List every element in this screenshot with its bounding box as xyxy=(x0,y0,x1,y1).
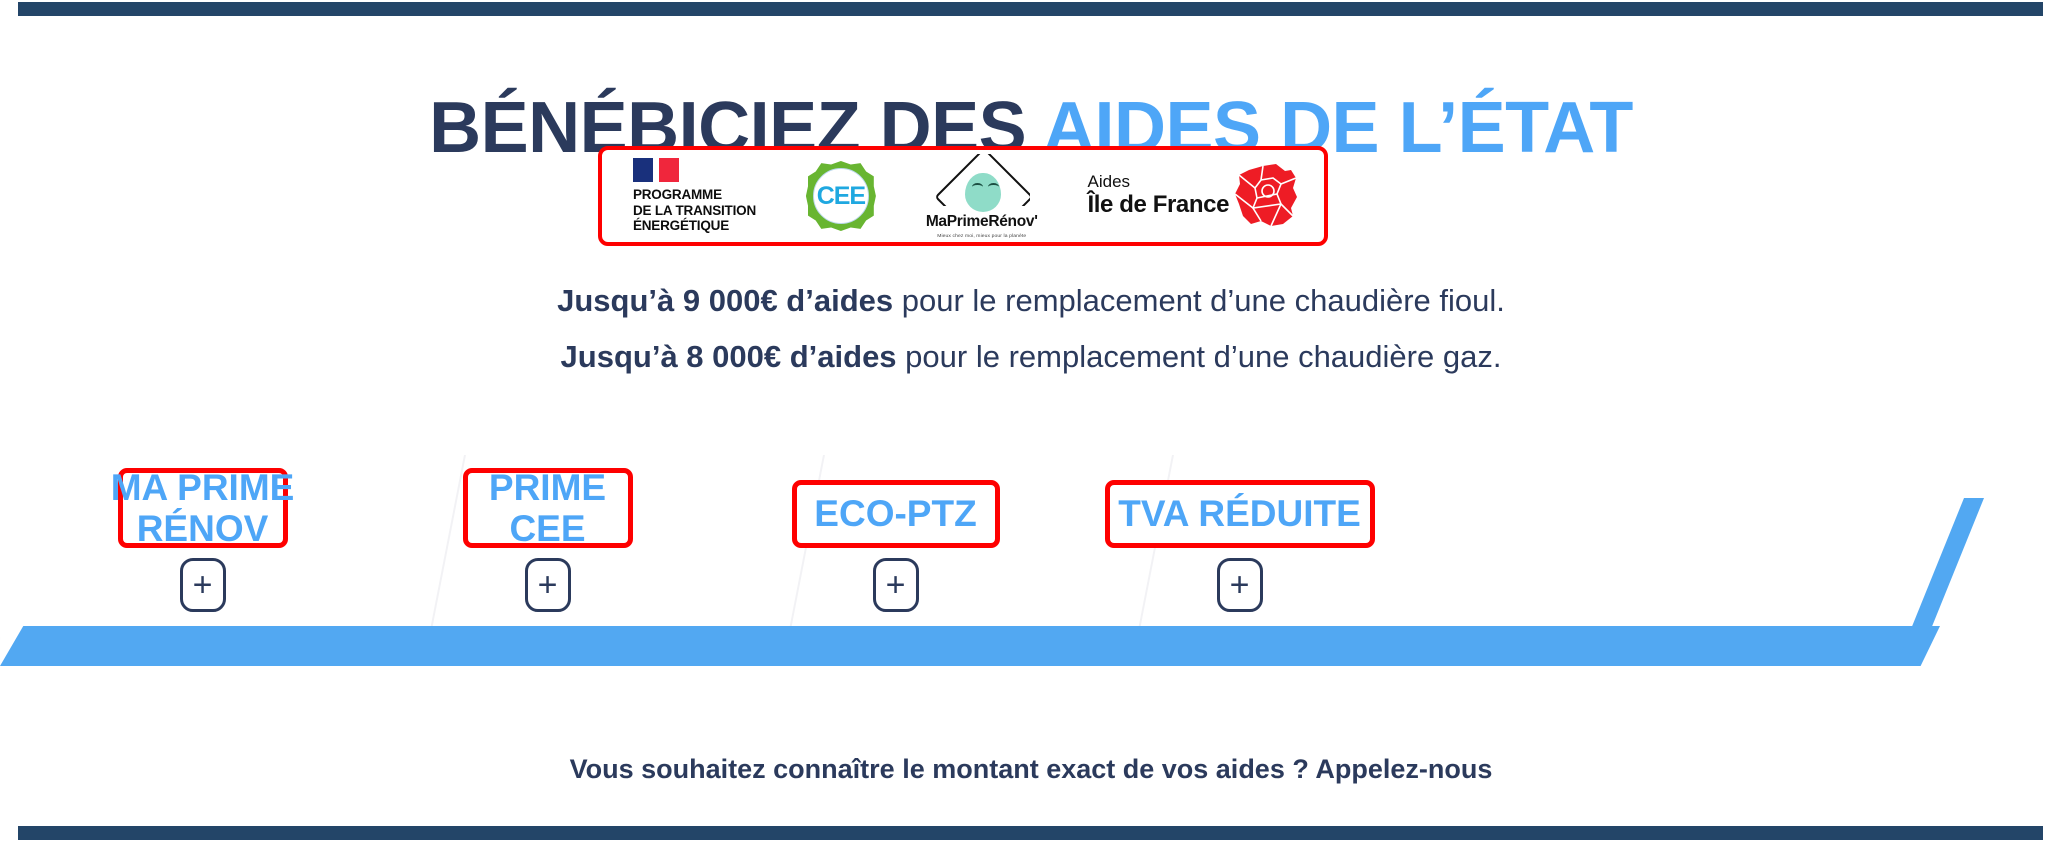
aid-cards-strip: MA PRIME RÉNOV + PRIME CEE + ECO-PTZ + T… xyxy=(0,430,2062,680)
aid-amount-fioul-strong: Jusqu’à 9 000€ d’aides xyxy=(557,283,893,318)
ile-de-france-map-icon xyxy=(1233,164,1299,228)
aid-amount-line-fioul: Jusqu’à 9 000€ d’aides pour le remplacem… xyxy=(0,283,2062,319)
logo-maprimerenov-name: MaPrimeRénov' xyxy=(926,213,1038,231)
aid-card-label-line2: CEE xyxy=(509,508,585,549)
expand-button-ma-prime-renov[interactable]: + xyxy=(180,558,226,612)
aid-card-label-line2: RÉNOV xyxy=(137,508,269,549)
logo-maprimerenov-tagline: Mieux chez moi, mieux pour la planète xyxy=(937,233,1026,239)
aid-card-prime-cee[interactable]: PRIME CEE + xyxy=(420,430,675,680)
bottom-accent-bar xyxy=(18,826,2043,840)
partner-logo-strip: PROGRAMME DE LA TRANSITION ÉNERGÉTIQUE C… xyxy=(598,146,1328,246)
aid-amount-line-gaz: Jusqu’à 8 000€ d’aides pour le remplacem… xyxy=(0,339,2062,375)
aid-card-eco-ptz[interactable]: ECO-PTZ + xyxy=(768,430,1023,680)
aid-card-label-eco-ptz[interactable]: ECO-PTZ xyxy=(792,480,1000,548)
aid-card-label-prime-cee[interactable]: PRIME CEE xyxy=(463,468,633,548)
aid-card-label-ma-prime-renov[interactable]: MA PRIME RÉNOV xyxy=(118,468,288,548)
logo-programme-line2: DE LA TRANSITION xyxy=(633,203,756,219)
logo-cee: CEE xyxy=(806,161,876,231)
aid-amount-fioul-rest: pour le remplacement d’une chaudière fio… xyxy=(893,283,1505,318)
cee-badge-icon: CEE xyxy=(806,161,876,231)
aid-card-tva-reduite[interactable]: TVA RÉDUITE + xyxy=(1112,430,1367,680)
expand-button-eco-ptz[interactable]: + xyxy=(873,558,919,612)
logo-aides-ile-de-france: Aides Île de France xyxy=(1088,164,1300,228)
expand-button-prime-cee[interactable]: + xyxy=(525,558,571,612)
french-flag-icon xyxy=(633,158,679,182)
logo-maprimerenov: MaPrimeRénov' Mieux chez moi, mieux pour… xyxy=(926,154,1038,239)
aid-amount-gaz-strong: Jusqu’à 8 000€ d’aides xyxy=(561,339,897,374)
expand-button-tva-reduite[interactable]: + xyxy=(1217,558,1263,612)
aid-card-label-line1: TVA RÉDUITE xyxy=(1118,493,1361,534)
logo-cee-text: CEE xyxy=(817,182,865,211)
logo-idf-line1: Aides xyxy=(1088,173,1230,192)
logo-programme-line3: ÉNERGÉTIQUE xyxy=(633,218,756,234)
footer-question: Vous souhaitez connaître le montant exac… xyxy=(0,754,2062,785)
aid-card-label-line1: PRIME xyxy=(489,467,606,508)
aid-card-label-line1: ECO-PTZ xyxy=(814,493,976,534)
logo-idf-line2: Île de France xyxy=(1088,192,1230,218)
logo-programme-transition-energetique: PROGRAMME DE LA TRANSITION ÉNERGÉTIQUE xyxy=(627,158,756,234)
aid-card-label-line1: MA PRIME xyxy=(111,467,295,508)
plus-icon: + xyxy=(1230,568,1250,602)
top-accent-bar xyxy=(18,2,2043,16)
aid-card-label-tva-reduite[interactable]: TVA RÉDUITE xyxy=(1105,480,1375,548)
blue-swoosh-arrow xyxy=(1872,498,1992,668)
plus-icon: + xyxy=(193,568,213,602)
logo-programme-text: PROGRAMME DE LA TRANSITION ÉNERGÉTIQUE xyxy=(633,187,756,234)
house-roof-smiley-icon xyxy=(934,154,1030,212)
plus-icon: + xyxy=(886,568,906,602)
aid-card-ma-prime-renov[interactable]: MA PRIME RÉNOV + xyxy=(75,430,330,680)
aid-amount-gaz-rest: pour le remplacement d’une chaudière gaz… xyxy=(897,339,1502,374)
plus-icon: + xyxy=(538,568,558,602)
logo-programme-line1: PROGRAMME xyxy=(633,187,756,203)
